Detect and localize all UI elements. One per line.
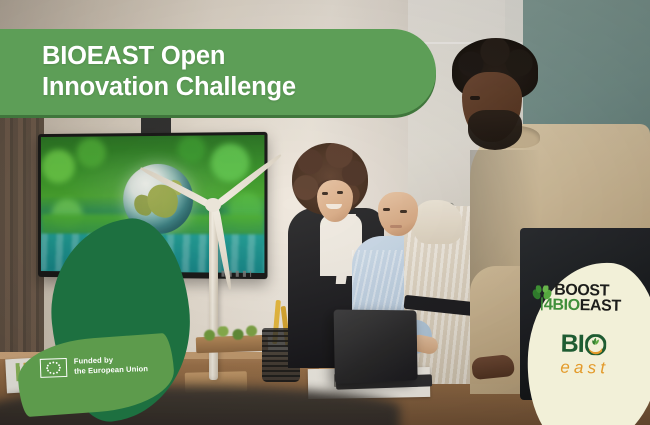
tv-bezel-label	[214, 271, 251, 277]
turbine-hub	[205, 198, 221, 212]
eye	[470, 96, 480, 100]
moss-sample	[202, 325, 264, 341]
boost-bio-text: BIO	[552, 298, 580, 314]
eu-flag-icon	[40, 357, 68, 377]
bioeast-wordmark-top: BI	[546, 331, 620, 357]
page-title: BIOEAST Open Innovation Challenge	[42, 41, 296, 103]
eu-funding-label: Funded by the European Union	[74, 354, 149, 377]
bioeast-bi-text: BI	[560, 332, 583, 357]
bioeast-globe-o-icon	[584, 334, 605, 355]
laptop-screen	[334, 310, 418, 384]
smile	[326, 204, 342, 209]
eye	[322, 192, 328, 195]
boost4bioeast-logo: BOOST 4 BIO EAST	[531, 282, 621, 315]
eu-funding-badge: Funded by the European Union	[40, 354, 149, 378]
bioeast-east-text: east	[546, 357, 620, 378]
hand	[471, 354, 515, 380]
sprout-leaf-icon	[531, 285, 553, 311]
mouth	[390, 225, 402, 228]
boost4bioeast-line2: 4 BIO EAST	[554, 298, 621, 315]
eye	[383, 208, 390, 211]
bioeast-open-innovation-challenge-poster: BIOEAST Open Innovation Challenge	[0, 0, 650, 425]
bioeast-logo: BI east	[546, 331, 621, 378]
boost-east-text: EAST	[580, 298, 621, 314]
beard	[468, 110, 522, 150]
eye	[400, 210, 407, 213]
eye	[337, 191, 343, 194]
boost4bioeast-wordmark: BOOST 4 BIO EAST	[554, 283, 621, 315]
title-banner: BIOEAST Open Innovation Challenge	[0, 29, 436, 115]
